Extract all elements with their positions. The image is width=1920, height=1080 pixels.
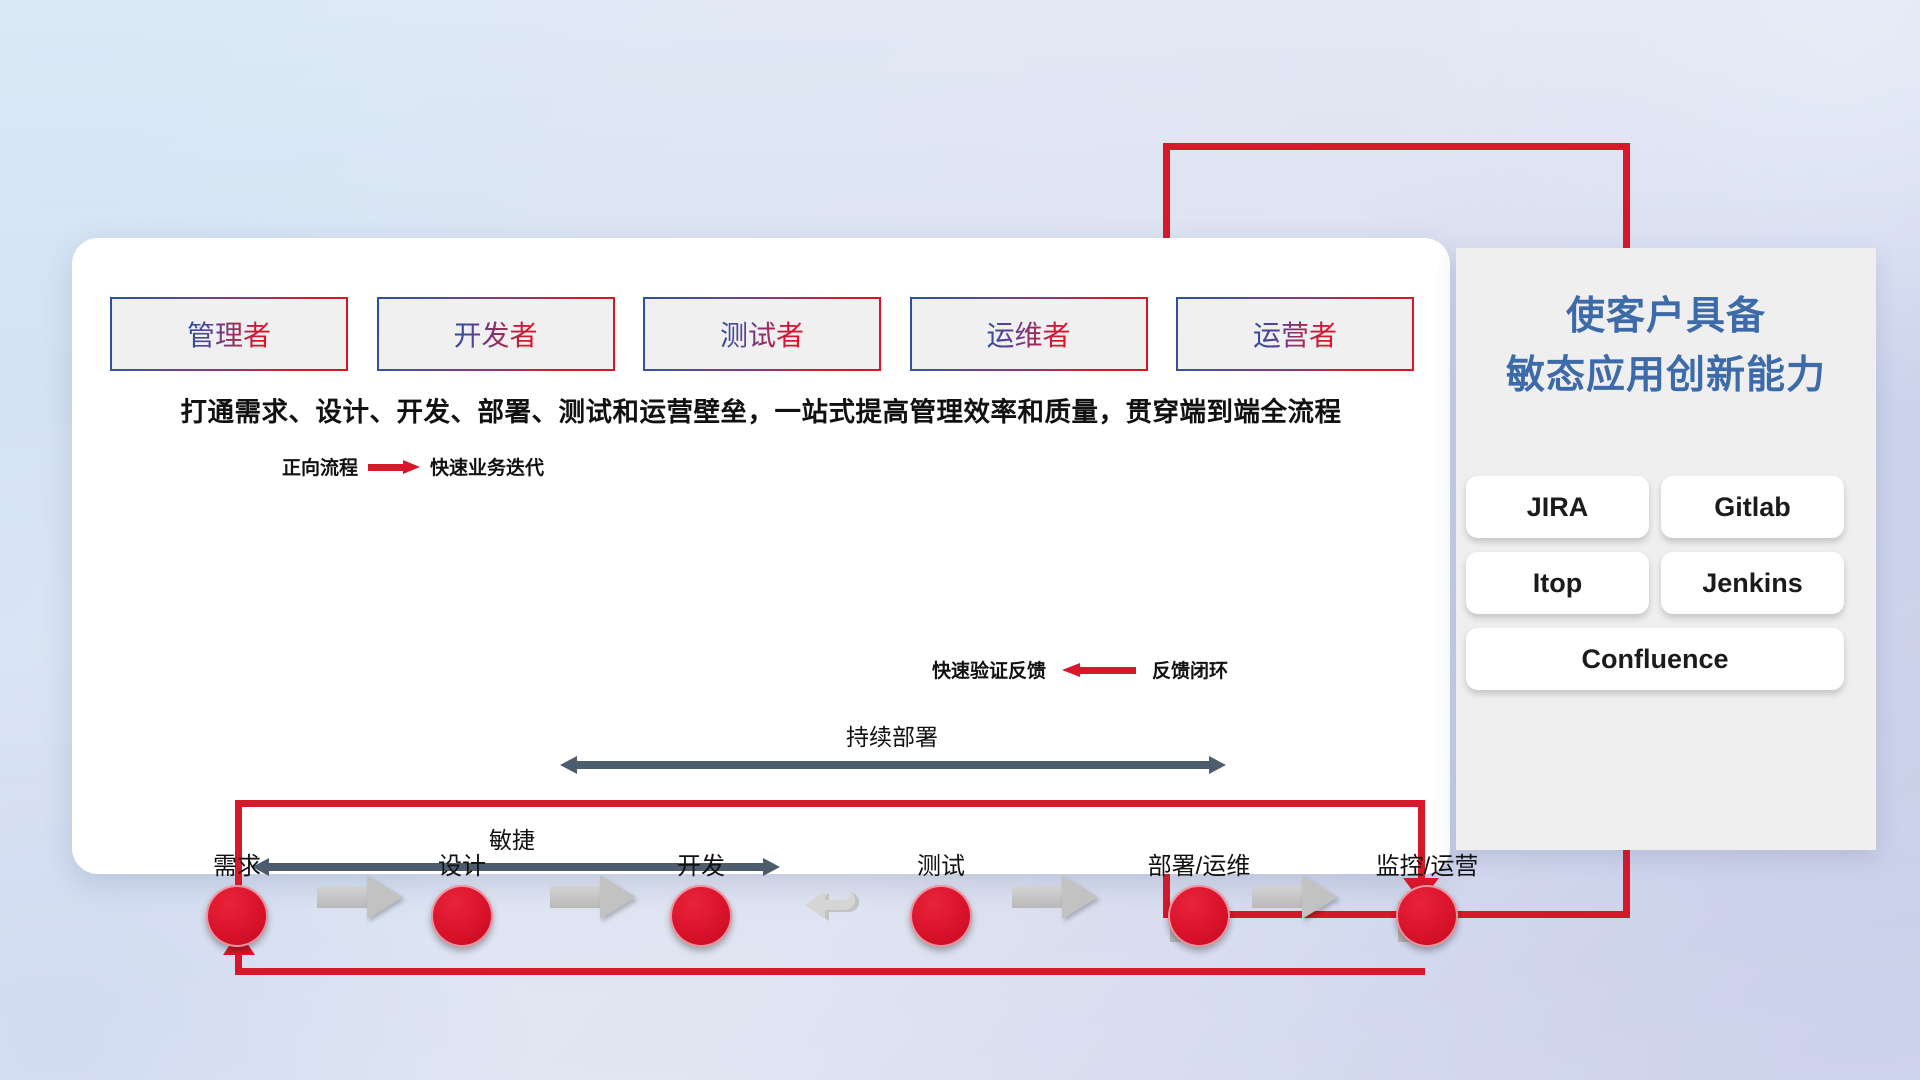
devops-overview-card: 管理者 开发者 测试者 运维者 运营者 打通需求、设计、开发、部署、测试和运营壁… bbox=[72, 238, 1450, 874]
span-label-continuous-deployment: 持续部署 bbox=[772, 718, 1012, 752]
pipeline-stage-dot bbox=[206, 885, 268, 947]
forward-flow-source-label: 正向流程 bbox=[282, 453, 358, 480]
pipeline-stage-dot bbox=[1396, 885, 1458, 947]
pipeline-stage-dot bbox=[910, 885, 972, 947]
role-chip-operations[interactable]: 运营者 bbox=[1178, 299, 1412, 369]
tool-chip-jenkins[interactable]: Jenkins bbox=[1661, 552, 1844, 614]
outcome-panel-title-line2: 敏态应用创新能力 bbox=[1456, 347, 1876, 406]
tool-chip-confluence[interactable]: Confluence bbox=[1466, 628, 1844, 690]
feedback-loop-bottom-segment bbox=[235, 968, 1425, 975]
pipeline-stage-dot bbox=[431, 885, 493, 947]
pipeline-arrow-4-icon bbox=[1252, 875, 1338, 919]
pipeline-arrow-1-icon bbox=[317, 875, 403, 919]
role-chip-developer[interactable]: 开发者 bbox=[379, 299, 613, 369]
span-arrow-continuous-deployment bbox=[560, 756, 1226, 774]
role-chip-label: 测试者 bbox=[720, 314, 804, 354]
pipeline-stage-dot bbox=[1168, 885, 1230, 947]
pipeline-stage-label: 设计 bbox=[402, 846, 522, 881]
outcome-panel-title: 使客户具备 敏态应用创新能力 bbox=[1456, 288, 1876, 405]
pipeline-stage-requirement[interactable]: 需求 bbox=[177, 846, 297, 947]
feedback-loop-top-segment bbox=[235, 800, 1425, 807]
role-chip-label: 运营者 bbox=[1253, 314, 1337, 354]
pipeline-arrow-3-icon bbox=[1012, 875, 1098, 919]
devops-pipeline: 需求 设计 开发 测试 部署/运维 监控/运营 bbox=[72, 846, 1450, 966]
pipeline-stage-testing[interactable]: 测试 bbox=[881, 846, 1001, 947]
forward-flow-legend: 正向流程 快速业务迭代 bbox=[282, 453, 544, 480]
pipeline-stage-development[interactable]: 开发 bbox=[641, 846, 761, 947]
tool-chip-itop[interactable]: Itop bbox=[1466, 552, 1649, 614]
feedback-result-label: 快速验证反馈 bbox=[932, 656, 1046, 683]
feedback-legend: 快速验证反馈 反馈闭环 bbox=[932, 656, 1228, 683]
role-chip-label: 管理者 bbox=[187, 314, 271, 354]
pipeline-stage-label: 测试 bbox=[881, 846, 1001, 881]
role-chip-label: 运维者 bbox=[986, 314, 1070, 354]
arrow-left-red-icon bbox=[1062, 663, 1136, 677]
pipeline-loopback-arrow-icon bbox=[779, 882, 873, 938]
tool-chip-gitlab[interactable]: Gitlab bbox=[1661, 476, 1844, 538]
outcome-panel: 使客户具备 敏态应用创新能力 JIRA Gitlab Itop Jenkins … bbox=[1456, 248, 1876, 850]
pipeline-stage-monitor-operations[interactable]: 监控/运营 bbox=[1347, 846, 1507, 947]
pipeline-arrow-2-icon bbox=[550, 875, 636, 919]
pipeline-stage-label: 监控/运营 bbox=[1347, 846, 1507, 881]
role-chip-manager[interactable]: 管理者 bbox=[112, 299, 346, 369]
feedback-source-label: 反馈闭环 bbox=[1152, 656, 1228, 683]
pipeline-stage-label: 需求 bbox=[177, 846, 297, 881]
pipeline-stage-dot bbox=[670, 885, 732, 947]
role-chip-ops[interactable]: 运维者 bbox=[912, 299, 1146, 369]
tool-chip-jira[interactable]: JIRA bbox=[1466, 476, 1649, 538]
role-chip-tester[interactable]: 测试者 bbox=[645, 299, 879, 369]
outcome-panel-title-line1: 使客户具备 bbox=[1456, 288, 1876, 347]
tool-chip-grid: JIRA Gitlab Itop Jenkins Confluence bbox=[1466, 476, 1866, 690]
pipeline-stage-label: 开发 bbox=[641, 846, 761, 881]
role-chip-row: 管理者 开发者 测试者 运维者 运营者 bbox=[112, 299, 1412, 369]
pipeline-stage-design[interactable]: 设计 bbox=[402, 846, 522, 947]
arrow-right-red-icon bbox=[368, 460, 420, 474]
forward-flow-target-label: 快速业务迭代 bbox=[430, 453, 544, 480]
role-chip-label: 开发者 bbox=[453, 314, 537, 354]
card-description: 打通需求、设计、开发、部署、测试和运营壁垒，一站式提高管理效率和质量，贯穿端到端… bbox=[72, 390, 1450, 429]
